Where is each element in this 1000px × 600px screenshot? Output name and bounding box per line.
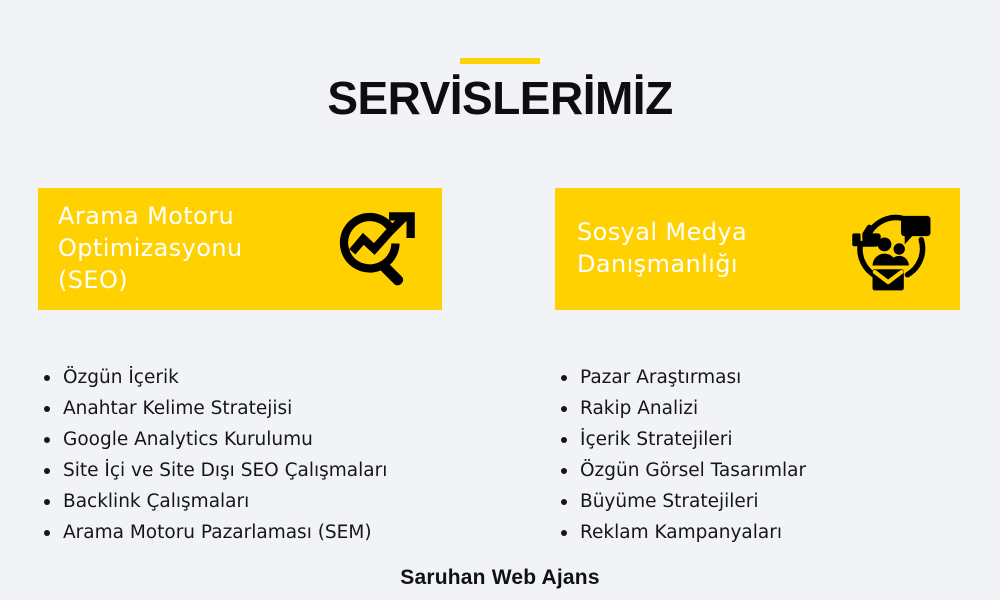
bullet-icon bbox=[561, 406, 567, 412]
list-item-label: Google Analytics Kurulumu bbox=[63, 429, 313, 450]
list-item: Reklam Kampanyaları bbox=[560, 517, 980, 548]
list-item: Pazar Araştırması bbox=[560, 362, 980, 393]
list-item-label: Backlink Çalışmaları bbox=[63, 491, 249, 512]
list-item: Backlink Çalışmaları bbox=[43, 486, 513, 517]
list-item: Google Analytics Kurulumu bbox=[43, 424, 513, 455]
list-item: Rakip Analizi bbox=[560, 393, 980, 424]
page-title: SERVİSLERİMİZ bbox=[0, 73, 1000, 124]
service-card-social-media[interactable]: Sosyal Medya Danışmanlığı bbox=[555, 188, 960, 310]
list-item-label: Özgün Görsel Tasarımlar bbox=[580, 460, 806, 481]
list-item: Büyüme Stratejileri bbox=[560, 486, 980, 517]
list-item: İçerik Stratejileri bbox=[560, 424, 980, 455]
bullet-icon bbox=[561, 530, 567, 536]
social-media-service-list: Pazar Araştırması Rakip Analizi İçerik S… bbox=[560, 362, 980, 548]
seo-service-list: Özgün İçerik Anahtar Kelime Stratejisi G… bbox=[43, 362, 513, 548]
list-item: Anahtar Kelime Stratejisi bbox=[43, 393, 513, 424]
seo-growth-magnifier-icon bbox=[332, 201, 424, 297]
service-card-seo[interactable]: Arama Motoru Optimizasyonu (SEO) bbox=[38, 188, 442, 310]
list-item-label: Reklam Kampanyaları bbox=[580, 522, 782, 543]
list-item: Arama Motoru Pazarlaması (SEM) bbox=[43, 517, 513, 548]
list-item-label: İçerik Stratejileri bbox=[580, 429, 732, 450]
list-item-label: Pazar Araştırması bbox=[580, 367, 741, 388]
bullet-icon bbox=[561, 437, 567, 443]
services-slide: SERVİSLERİMİZ Arama Motoru Optimizasyonu… bbox=[0, 0, 1000, 600]
list-item: Özgün İçerik bbox=[43, 362, 513, 393]
social-media-network-icon bbox=[840, 203, 940, 295]
service-card-title: Arama Motoru Optimizasyonu (SEO) bbox=[58, 201, 332, 296]
list-item-label: Anahtar Kelime Stratejisi bbox=[63, 398, 292, 419]
bullet-icon bbox=[44, 499, 50, 505]
bullet-icon bbox=[561, 375, 567, 381]
title-accent-bar bbox=[460, 58, 540, 64]
list-item: Özgün Görsel Tasarımlar bbox=[560, 455, 980, 486]
bullet-icon bbox=[44, 406, 50, 412]
list-item-label: Özgün İçerik bbox=[63, 367, 179, 388]
list-item-label: Büyüme Stratejileri bbox=[580, 491, 759, 512]
bullet-icon bbox=[561, 499, 567, 505]
list-item: Site İçi ve Site Dışı SEO Çalışmaları bbox=[43, 455, 513, 486]
list-item-label: Site İçi ve Site Dışı SEO Çalışmaları bbox=[63, 460, 387, 481]
list-item-label: Arama Motoru Pazarlaması (SEM) bbox=[63, 522, 372, 543]
bullet-icon bbox=[561, 468, 567, 474]
bullet-icon bbox=[44, 375, 50, 381]
service-card-title: Sosyal Medya Danışmanlığı bbox=[577, 217, 840, 280]
list-item-label: Rakip Analizi bbox=[580, 398, 698, 419]
bullet-icon bbox=[44, 530, 50, 536]
bullet-icon bbox=[44, 437, 50, 443]
footer-brand: Saruhan Web Ajans bbox=[0, 566, 1000, 590]
bullet-icon bbox=[44, 468, 50, 474]
